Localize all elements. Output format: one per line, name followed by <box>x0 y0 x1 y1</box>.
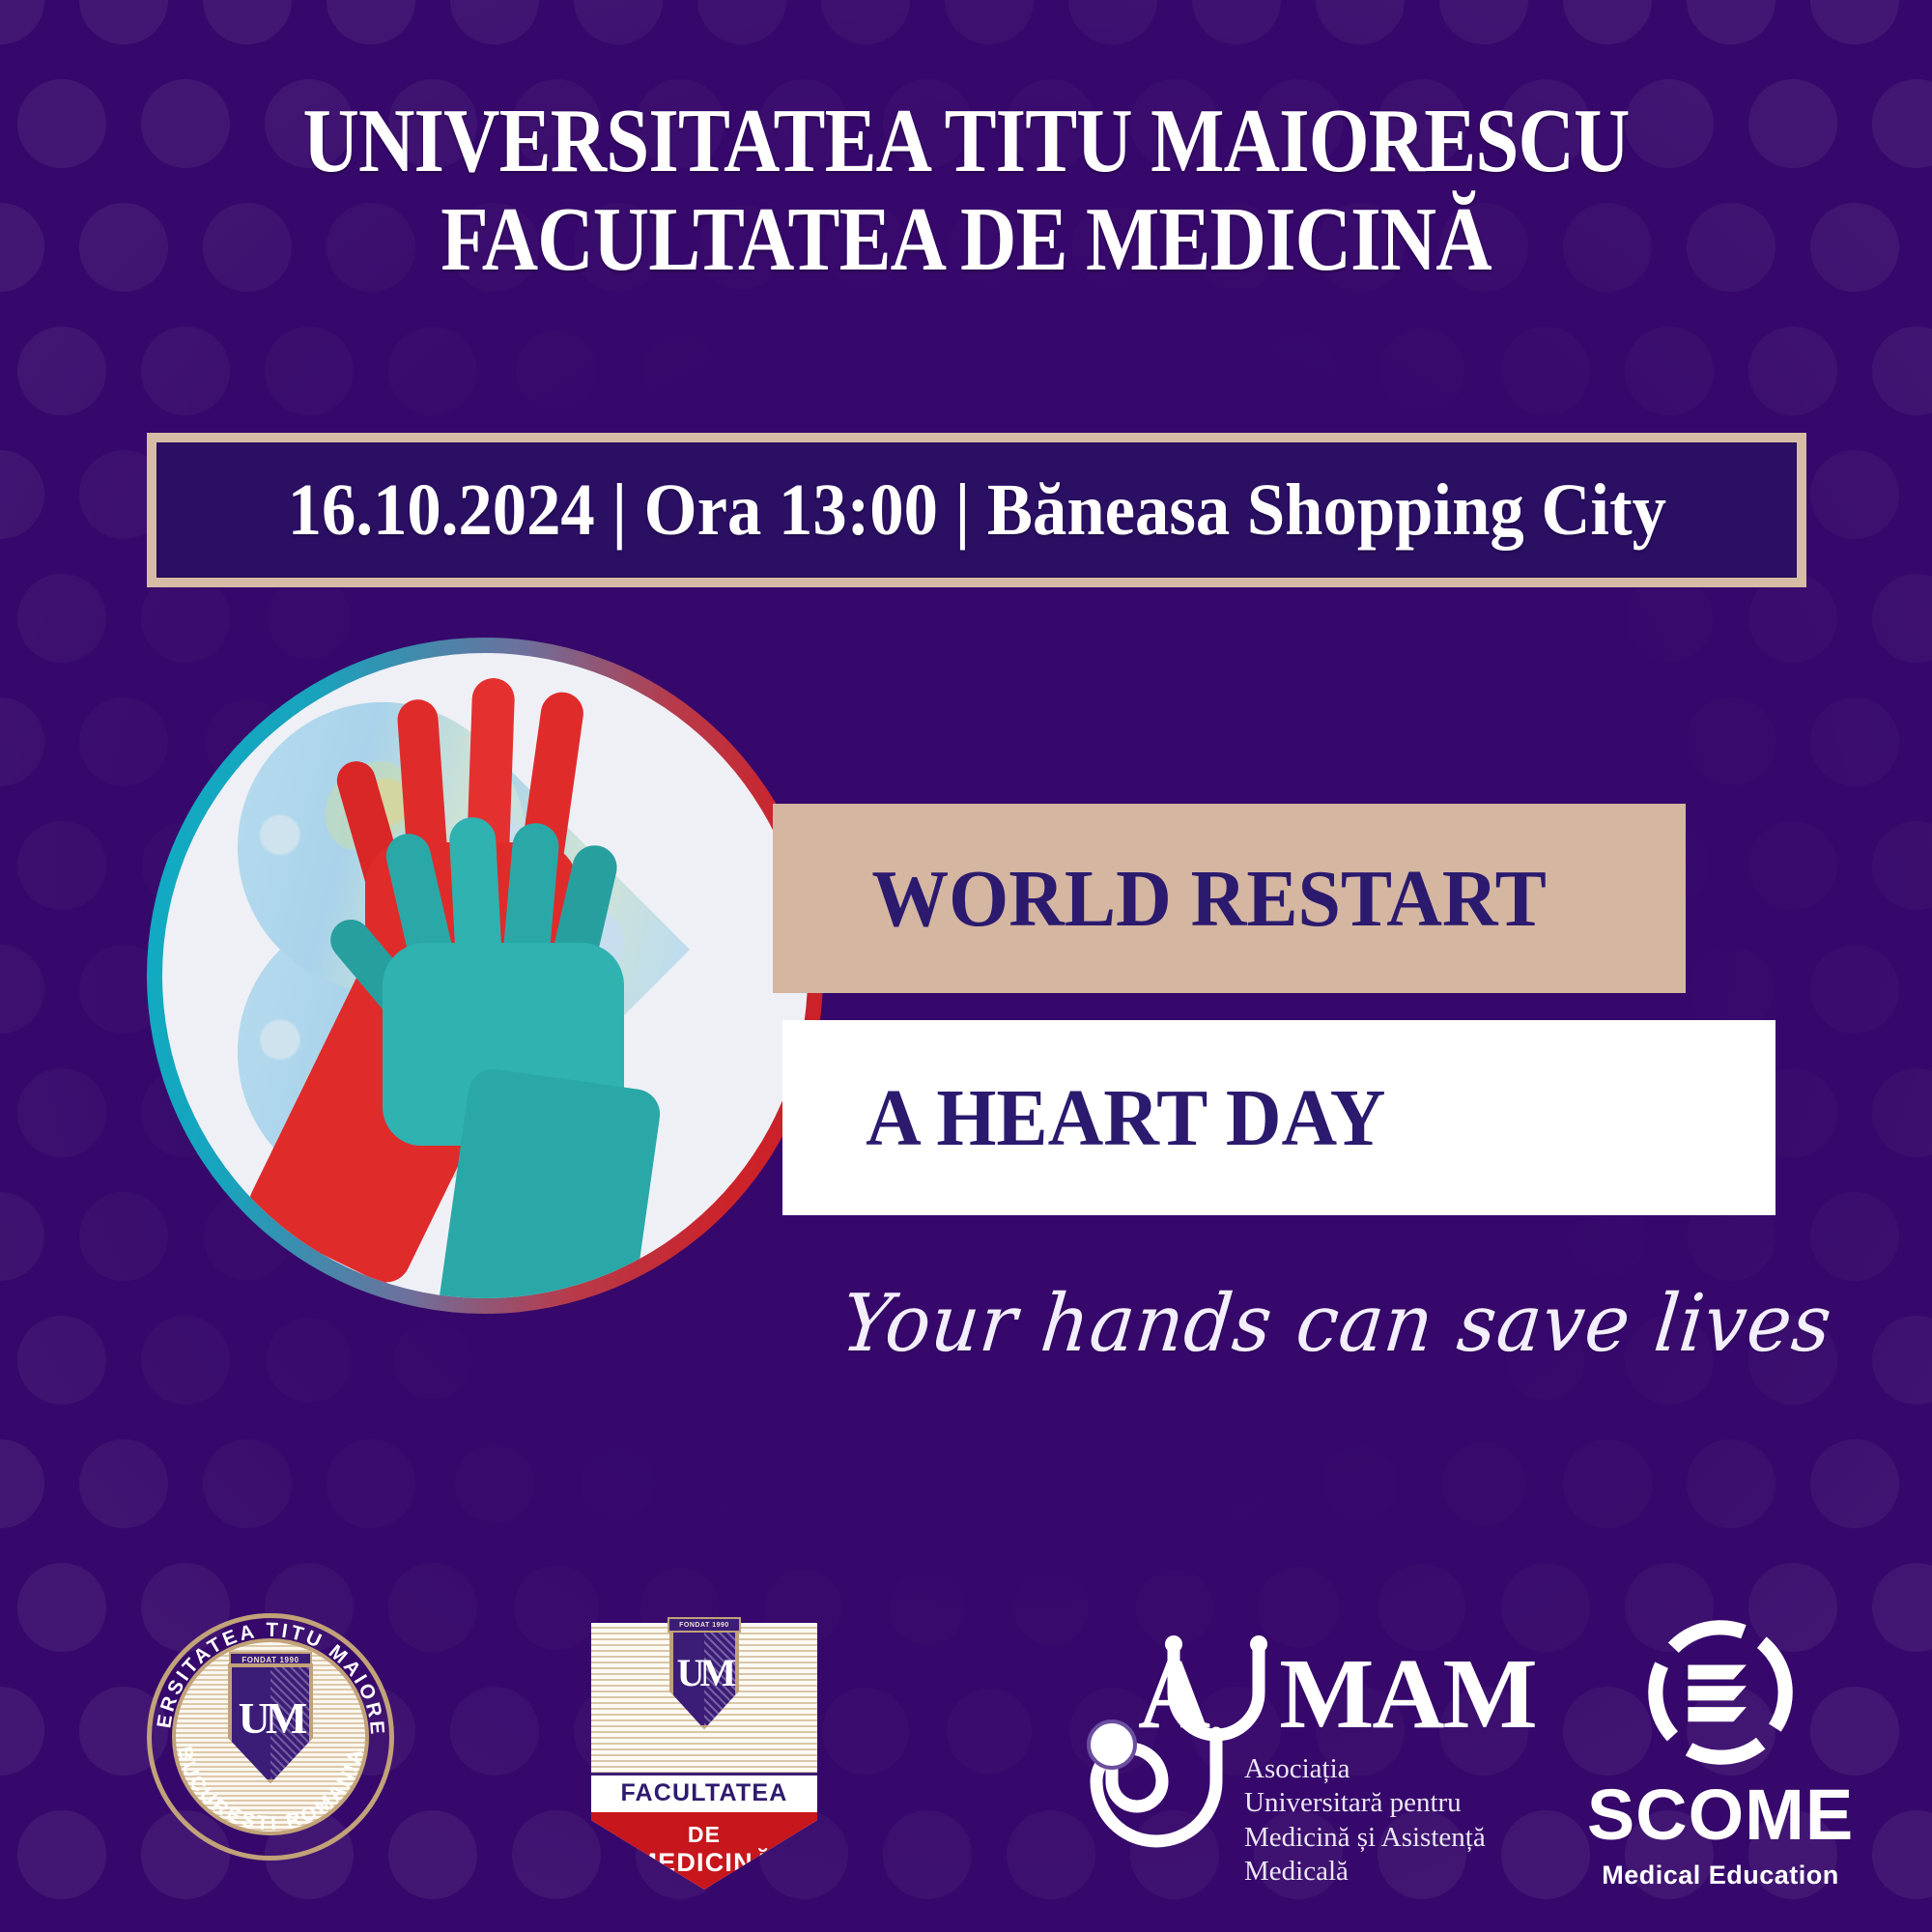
aumam-wordmark: AUMAM <box>1138 1636 1536 1751</box>
background-dot <box>1388 584 1457 653</box>
background-dot <box>450 0 539 44</box>
aumam-subtitle: Asociația Universitară pentru Medicină ș… <box>1244 1752 1490 1889</box>
background-dot <box>1687 697 1776 786</box>
headline-line-2: FACULTATEA DE MEDICINĂ <box>135 191 1797 290</box>
background-dot <box>1569 703 1647 781</box>
event-tagline: Your hands can save lives <box>838 1285 1808 1364</box>
background-dot <box>141 327 230 415</box>
background-dot <box>394 1321 470 1398</box>
crest-monogram: UM <box>673 1650 735 1695</box>
background-dot <box>327 1439 414 1527</box>
background-dot <box>0 203 44 292</box>
background-dot <box>203 0 292 44</box>
faculty-crest-logo: FACULTATEA DE MEDICINĂ FONDAT 1990 UM <box>591 1623 817 1889</box>
partner-logo-row: UNIVERSITATEA TITU MAIORESCU BUCURESTI R… <box>0 1604 1932 1922</box>
background-dot <box>79 697 168 786</box>
background-dot <box>0 1439 44 1528</box>
background-dot <box>1626 575 1714 663</box>
background-dot <box>1810 450 1899 539</box>
background-dot <box>1316 0 1405 44</box>
background-dot <box>1872 821 1932 910</box>
scome-circle-icon <box>1639 1611 1802 1774</box>
background-dot <box>957 1452 1020 1515</box>
background-dot <box>17 574 106 663</box>
aumam-subtitle-line-1: Asociația Universitară pentru <box>1244 1752 1490 1821</box>
background-dot <box>1563 0 1652 44</box>
background-dot <box>79 0 168 44</box>
background-dot <box>1810 0 1899 44</box>
background-dot <box>1810 697 1899 786</box>
background-dot <box>1192 0 1281 44</box>
utm-seal-monogram: UM <box>232 1692 309 1744</box>
background-dot <box>17 327 106 415</box>
background-dot <box>834 1452 897 1516</box>
campaign-photo-image <box>162 653 808 1298</box>
background-dot <box>1748 821 1837 910</box>
background-dot <box>1015 335 1086 406</box>
background-dot <box>0 697 44 786</box>
background-dot <box>1379 328 1463 412</box>
background-dot <box>708 1450 776 1518</box>
event-title-band-primary: WORLD RESTART <box>773 804 1686 993</box>
background-dot <box>1563 1439 1652 1528</box>
background-dot <box>1442 1442 1525 1525</box>
background-dot <box>1687 0 1776 44</box>
background-dot <box>642 333 719 410</box>
background-dot <box>17 79 106 168</box>
background-dot <box>1202 1449 1271 1519</box>
background-dot <box>79 1192 168 1281</box>
background-dot <box>516 330 598 412</box>
crest-line-medicina: MEDICINĂ <box>635 1848 773 1879</box>
background-dot <box>582 1447 654 1520</box>
aumam-logo: AUMAM Asociația Universitară pentru Medi… <box>1026 1636 1490 1878</box>
background-dot <box>268 577 352 661</box>
background-dot <box>1501 327 1590 415</box>
background-dot <box>327 0 415 44</box>
background-dot <box>0 0 44 44</box>
scome-wordmark: SCOME <box>1580 1779 1861 1851</box>
background-dot <box>17 1068 106 1157</box>
event-title-band-secondary: A HEART DAY <box>782 1020 1776 1215</box>
background-dot <box>388 327 477 415</box>
background-dot <box>1138 334 1211 408</box>
background-dot <box>17 1316 106 1405</box>
background-dot <box>17 821 106 910</box>
event-title-line-2: A HEART DAY <box>866 1071 1385 1165</box>
event-title-line-1: WORLD RESTART <box>871 852 1547 946</box>
background-dot <box>1810 1192 1899 1281</box>
background-dot <box>574 0 663 44</box>
background-dot <box>203 1439 292 1528</box>
background-dot <box>821 0 910 44</box>
background-dot <box>697 0 786 44</box>
aumam-subtitle-line-2: Medicină și Asistență Medicală <box>1244 1821 1490 1889</box>
background-dot <box>1439 0 1528 44</box>
background-dot <box>945 0 1034 44</box>
background-dot <box>1810 203 1899 292</box>
date-banner-text: 16.10.2024 | Ora 13:00 | Băneasa Shoppin… <box>287 469 1665 553</box>
crest-line-de: DE <box>688 1822 721 1848</box>
background-dot <box>0 450 44 539</box>
background-dot <box>455 1444 535 1524</box>
scome-subtitle: Medical Education <box>1580 1861 1861 1890</box>
headline-line-1: UNIVERSITATEA TITU MAIORESCU <box>303 91 1630 191</box>
background-dot <box>1810 1439 1899 1528</box>
background-dot <box>1687 1439 1776 1528</box>
background-dot <box>267 1318 353 1404</box>
background-dot <box>1507 580 1584 657</box>
background-dot <box>0 1192 44 1281</box>
background-dot <box>1872 1316 1932 1405</box>
utm-seal-logo: UNIVERSITATEA TITU MAIORESCU BUCURESTI R… <box>147 1613 394 1861</box>
background-dot <box>1260 332 1338 411</box>
background-dot <box>1872 1068 1932 1157</box>
background-dot <box>1068 0 1157 44</box>
aumam-letter-a: A <box>1138 1638 1208 1749</box>
background-dot <box>79 1439 168 1528</box>
background-dot <box>1872 79 1932 168</box>
background-dot <box>141 1316 230 1405</box>
background-dot <box>1625 327 1714 415</box>
background-dot <box>893 336 963 407</box>
background-dot <box>1322 1446 1398 1521</box>
scome-logo: SCOME Medical Education <box>1580 1611 1861 1901</box>
poster-headline: UNIVERSITATEA TITU MAIORESCU FACULTATEA … <box>135 93 1797 289</box>
date-time-venue-banner: 16.10.2024 | Ora 13:00 | Băneasa Shoppin… <box>147 433 1806 587</box>
background-dot <box>1080 1451 1145 1516</box>
background-dot <box>0 945 44 1034</box>
background-dot <box>1872 574 1932 663</box>
background-dot <box>1872 327 1932 415</box>
background-dot <box>1810 945 1899 1034</box>
crest-line-facultatea: FACULTATEA <box>620 1779 787 1807</box>
background-dot <box>1748 327 1837 415</box>
crest-founded-banner: FONDAT 1990 <box>668 1617 741 1633</box>
background-dot <box>1450 708 1518 776</box>
background-dot <box>768 335 840 408</box>
background-dot <box>523 1326 590 1394</box>
aumam-letters-mam: MAM <box>1279 1638 1535 1749</box>
poster-canvas: UNIVERSITATEA TITU MAIORESCU FACULTATEA … <box>0 0 1932 1932</box>
background-dot <box>265 327 354 415</box>
campaign-photo-circle <box>147 638 823 1314</box>
